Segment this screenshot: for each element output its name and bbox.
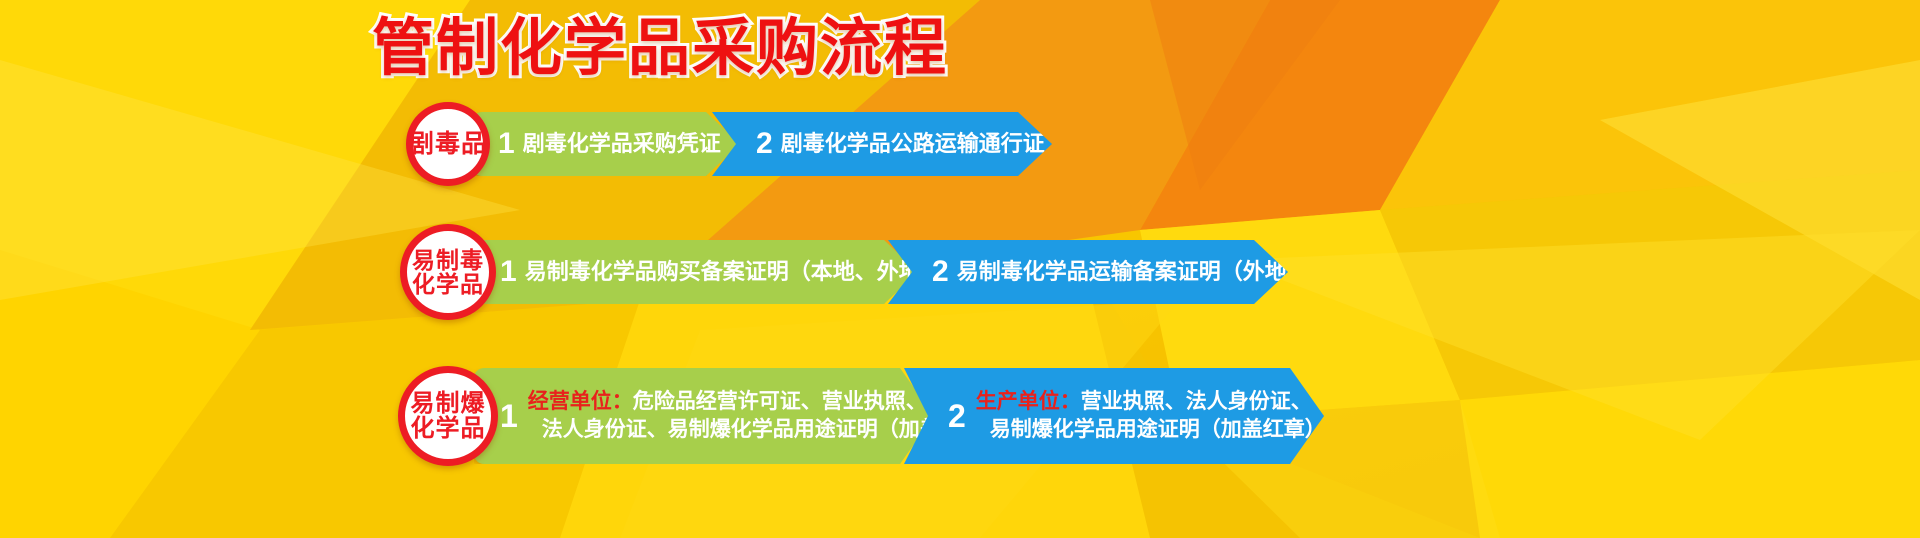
flow-row-precursor: 易制毒 化学品 1 易制毒化学品购买备案证明（本地、外地） 2 易制毒化学品运输… (0, 224, 1920, 320)
step-number: 1 (498, 129, 515, 159)
step-label: 经营单位： (528, 390, 633, 413)
step-line-text: 危险品经营许可证、营业执照、 (633, 390, 927, 413)
step-number: 1 (500, 400, 518, 432)
step-number: 1 (500, 257, 517, 287)
step-2-precursor[interactable]: 2 易制毒化学品运输备案证明（外地） (888, 240, 1288, 304)
step-number: 2 (932, 257, 949, 287)
step-2-explosive[interactable]: 2 生产单位：营业执照、法人身份证、 易制爆化学品用途证明（加盖红章） (904, 368, 1324, 464)
step-line-text: 易制爆化学品用途证明（加盖红章） (990, 418, 1326, 441)
category-badge-precursor: 易制毒 化学品 (400, 224, 496, 320)
step-1-toxic[interactable]: 1 剧毒化学品采购凭证 (472, 112, 740, 176)
step-text-line: 易制爆化学品用途证明（加盖红章） (990, 416, 1326, 444)
step-line-text: 营业执照、法人身份证、 (1081, 390, 1312, 413)
badge-line: 剧毒品 (409, 131, 487, 157)
badge-line: 化学品 (411, 416, 486, 441)
step-number: 2 (756, 129, 773, 159)
step-text: 剧毒化学品采购凭证 (523, 129, 721, 158)
step-number: 2 (948, 400, 966, 432)
badge-line: 易制毒 (412, 248, 484, 272)
category-badge-explosive: 易制爆 化学品 (398, 366, 498, 466)
step-2-toxic[interactable]: 2 剧毒化学品公路运输通行证 (712, 112, 1052, 176)
step-label: 生产单位： (976, 390, 1081, 413)
step-text-line: 生产单位：营业执照、法人身份证、 (976, 388, 1326, 416)
step-1-precursor[interactable]: 1 易制毒化学品购买备案证明（本地、外地） (474, 240, 918, 304)
process-flow-rows: 剧毒品 1 剧毒化学品采购凭证 2 剧毒化学品公路运输通行证 易制毒 化学品 1… (0, 96, 1920, 526)
step-text: 易制毒化学品运输备案证明（外地） (957, 257, 1309, 286)
promotional-banner: 管制化学品采购流程 剧毒品 1 剧毒化学品采购凭证 2 剧毒化学品公路运输通行证… (0, 0, 1920, 538)
badge-line: 易制爆 (411, 391, 486, 416)
flow-row-toxic: 剧毒品 1 剧毒化学品采购凭证 2 剧毒化学品公路运输通行证 (0, 102, 1920, 186)
flow-row-explosive: 易制爆 化学品 1 经营单位：危险品经营许可证、营业执照、 法人身份证、易制爆化… (0, 354, 1920, 478)
step-1-explosive[interactable]: 1 经营单位：危险品经营许可证、营业执照、 法人身份证、易制爆化学品用途证明（加… (474, 368, 934, 464)
step-text: 生产单位：营业执照、法人身份证、 易制爆化学品用途证明（加盖红章） (976, 388, 1326, 443)
step-text: 易制毒化学品购买备案证明（本地、外地） (525, 257, 943, 286)
step-text: 剧毒化学品公路运输通行证 (781, 129, 1045, 158)
badge-line: 化学品 (412, 272, 484, 296)
category-badge-toxic: 剧毒品 (406, 102, 490, 186)
